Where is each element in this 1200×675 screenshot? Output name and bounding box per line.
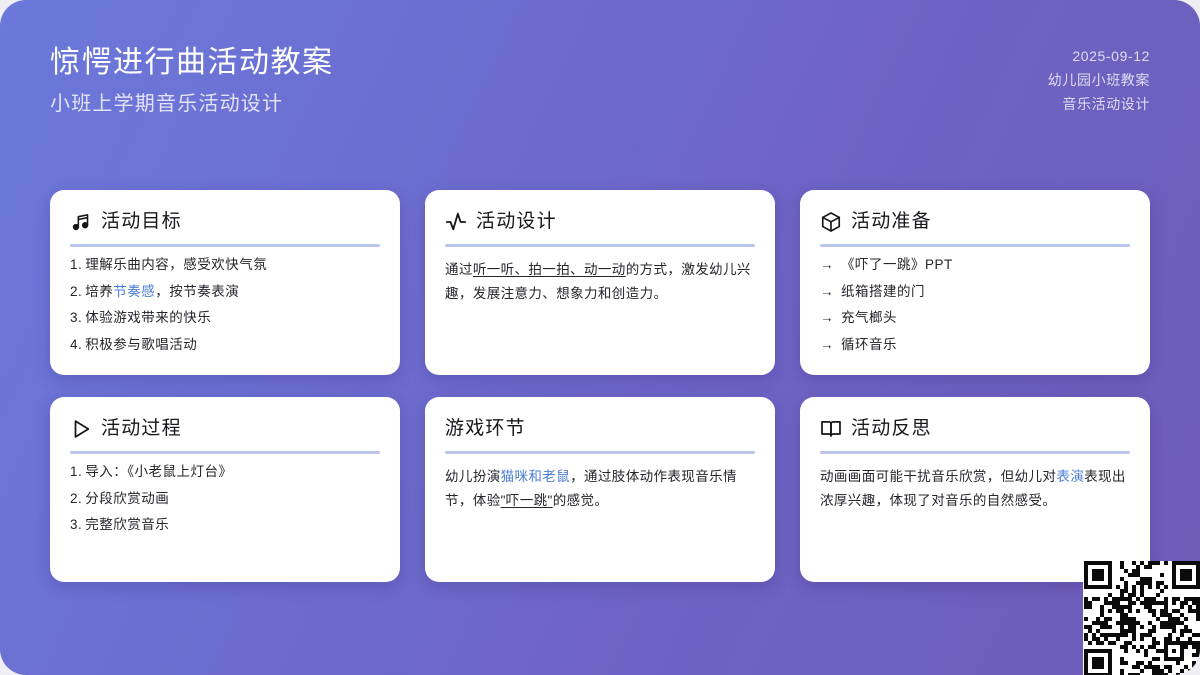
card-reflection[interactable]: 活动反思动画画面可能干扰音乐欣赏，但幼儿对表演表现出浓厚兴趣，体现了对音乐的自然… xyxy=(800,397,1150,582)
list-marker: 1. xyxy=(70,464,82,479)
card-header: 活动过程 xyxy=(70,415,380,442)
card-title: 游戏环节 xyxy=(445,419,526,438)
activity-pulse-icon xyxy=(445,211,467,233)
list-item: 2.分段欣赏动画 xyxy=(70,492,380,506)
card-title: 活动目标 xyxy=(101,212,182,231)
card-body: 1.导入：《小老鼠上灯台》2.分段欣赏动画3.完整欣赏音乐 xyxy=(70,465,380,532)
card-paragraph: 通过听一听、拍一拍、动一动的方式，激发幼儿兴趣，发展注意力、想象力和创造力。 xyxy=(445,258,755,305)
highlighted-term: 猫咪和老鼠 xyxy=(501,469,571,484)
cube-box-icon xyxy=(820,211,842,233)
list-marker: 2. xyxy=(70,284,82,299)
list-item: 2.培养节奏感，按节奏表演 xyxy=(70,285,380,299)
list-marker: 2. xyxy=(70,491,82,506)
text-segment: 充气榔头 xyxy=(841,310,897,325)
underlined-term: "吓一跳" xyxy=(501,493,553,508)
qr-code-panel xyxy=(1083,563,1200,675)
text-segment: 完整欣赏音乐 xyxy=(85,517,169,532)
underlined-term: 听一听、拍一拍、动一动 xyxy=(473,262,626,277)
arrow-bullet-icon: → xyxy=(820,257,834,272)
text-segment: 幼儿扮演 xyxy=(445,469,501,484)
card-divider xyxy=(820,451,1130,454)
highlighted-term: 节奏感 xyxy=(113,284,155,299)
card-title: 活动设计 xyxy=(476,212,557,231)
card-title: 活动准备 xyxy=(851,212,932,231)
page-subtitle: 小班上学期音乐活动设计 xyxy=(50,92,334,117)
page-title: 惊愕进行曲活动教案 xyxy=(50,44,334,82)
card-body: →《吓了一跳》PPT→纸箱搭建的门→充气榔头→循环音乐 xyxy=(820,258,1130,351)
card-header: 游戏环节 xyxy=(445,415,755,442)
card-divider xyxy=(445,451,755,454)
qr-code-image xyxy=(1084,561,1200,675)
card-header: 活动反思 xyxy=(820,415,1130,442)
card-header: 活动准备 xyxy=(820,208,1130,235)
card-divider xyxy=(70,244,380,247)
meta-category: 幼儿园小班教案 xyxy=(1048,68,1150,92)
card-header: 活动设计 xyxy=(445,208,755,235)
card-process[interactable]: 活动过程1.导入：《小老鼠上灯台》2.分段欣赏动画3.完整欣赏音乐 xyxy=(50,397,400,582)
card-grid: 活动目标1.理解乐曲内容，感受欢快气氛2.培养节奏感，按节奏表演3.体验游戏带来… xyxy=(50,190,1150,582)
slide-root: 惊愕进行曲活动教案 小班上学期音乐活动设计 2025-09-12 幼儿园小班教案… xyxy=(0,0,1200,675)
list-item: 4.积极参与歌唱活动 xyxy=(70,338,380,352)
list-item: 1.导入：《小老鼠上灯台》 xyxy=(70,465,380,479)
text-segment: 体验游戏带来的快乐 xyxy=(85,310,211,325)
card-body: 幼儿扮演猫咪和老鼠，通过肢体动作表现音乐情节，体验"吓一跳"的感觉。 xyxy=(445,465,755,512)
card-divider xyxy=(445,244,755,247)
card-divider xyxy=(70,451,380,454)
list-item: 3.体验游戏带来的快乐 xyxy=(70,311,380,325)
text-segment: ，按节奏表演 xyxy=(155,284,239,299)
list-item: →《吓了一跳》PPT xyxy=(820,258,1130,272)
card-paragraph: 幼儿扮演猫咪和老鼠，通过肢体动作表现音乐情节，体验"吓一跳"的感觉。 xyxy=(445,465,755,512)
arrow-bullet-icon: → xyxy=(820,284,834,299)
text-segment: 动画画面可能干扰音乐欣赏，但幼儿对 xyxy=(820,469,1056,484)
card-title: 活动过程 xyxy=(101,419,182,438)
text-segment: 培养 xyxy=(85,284,113,299)
text-segment: 理解乐曲内容，感受欢快气氛 xyxy=(85,257,267,272)
card-preparation[interactable]: 活动准备→《吓了一跳》PPT→纸箱搭建的门→充气榔头→循环音乐 xyxy=(800,190,1150,375)
text-segment: 循环音乐 xyxy=(841,337,897,352)
text-segment: 导入：《小老鼠上灯台》 xyxy=(85,464,232,479)
list-marker: 3. xyxy=(70,310,82,325)
text-segment: 《吓了一跳》PPT xyxy=(841,257,953,272)
card-body: 1.理解乐曲内容，感受欢快气氛2.培养节奏感，按节奏表演3.体验游戏带来的快乐4… xyxy=(70,258,380,351)
slide-header: 惊愕进行曲活动教案 小班上学期音乐活动设计 2025-09-12 幼儿园小班教案… xyxy=(0,0,1200,170)
card-paragraph: 动画画面可能干扰音乐欣赏，但幼儿对表演表现出浓厚兴趣，体现了对音乐的自然感受。 xyxy=(820,465,1130,512)
list-item: 1.理解乐曲内容，感受欢快气氛 xyxy=(70,258,380,272)
card-body: 通过听一听、拍一拍、动一动的方式，激发幼儿兴趣，发展注意力、想象力和创造力。 xyxy=(445,258,755,305)
meta-date: 2025-09-12 xyxy=(1048,44,1150,68)
list-marker: 1. xyxy=(70,257,82,272)
list-item: →充气榔头 xyxy=(820,311,1130,325)
card-divider xyxy=(820,244,1130,247)
meta-kind: 音乐活动设计 xyxy=(1048,92,1150,116)
list-item: →纸箱搭建的门 xyxy=(820,285,1130,299)
card-header: 活动目标 xyxy=(70,208,380,235)
play-triangle-icon xyxy=(70,418,92,440)
card-design[interactable]: 活动设计通过听一听、拍一拍、动一动的方式，激发幼儿兴趣，发展注意力、想象力和创造… xyxy=(425,190,775,375)
arrow-bullet-icon: → xyxy=(820,337,834,352)
arrow-bullet-icon: → xyxy=(820,310,834,325)
text-segment: 分段欣赏动画 xyxy=(85,491,169,506)
card-title: 活动反思 xyxy=(851,419,932,438)
card-objectives[interactable]: 活动目标1.理解乐曲内容，感受欢快气氛2.培养节奏感，按节奏表演3.体验游戏带来… xyxy=(50,190,400,375)
open-book-icon xyxy=(820,418,842,440)
text-segment: 纸箱搭建的门 xyxy=(841,284,925,299)
highlighted-term: 表演 xyxy=(1056,469,1084,484)
list-marker: 3. xyxy=(70,517,82,532)
text-segment: 积极参与歌唱活动 xyxy=(85,337,197,352)
list-item: →循环音乐 xyxy=(820,338,1130,352)
header-meta: 2025-09-12 幼儿园小班教案 音乐活动设计 xyxy=(1048,44,1150,116)
card-body: 动画画面可能干扰音乐欣赏，但幼儿对表演表现出浓厚兴趣，体现了对音乐的自然感受。 xyxy=(820,465,1130,512)
list-marker: 4. xyxy=(70,337,82,352)
list-item: 3.完整欣赏音乐 xyxy=(70,518,380,532)
card-game[interactable]: 游戏环节幼儿扮演猫咪和老鼠，通过肢体动作表现音乐情节，体验"吓一跳"的感觉。 xyxy=(425,397,775,582)
music-note-icon xyxy=(70,211,92,233)
text-segment: 通过 xyxy=(445,262,473,277)
header-title-block: 惊愕进行曲活动教案 小班上学期音乐活动设计 xyxy=(50,44,334,117)
text-segment: 的感觉。 xyxy=(553,493,609,508)
